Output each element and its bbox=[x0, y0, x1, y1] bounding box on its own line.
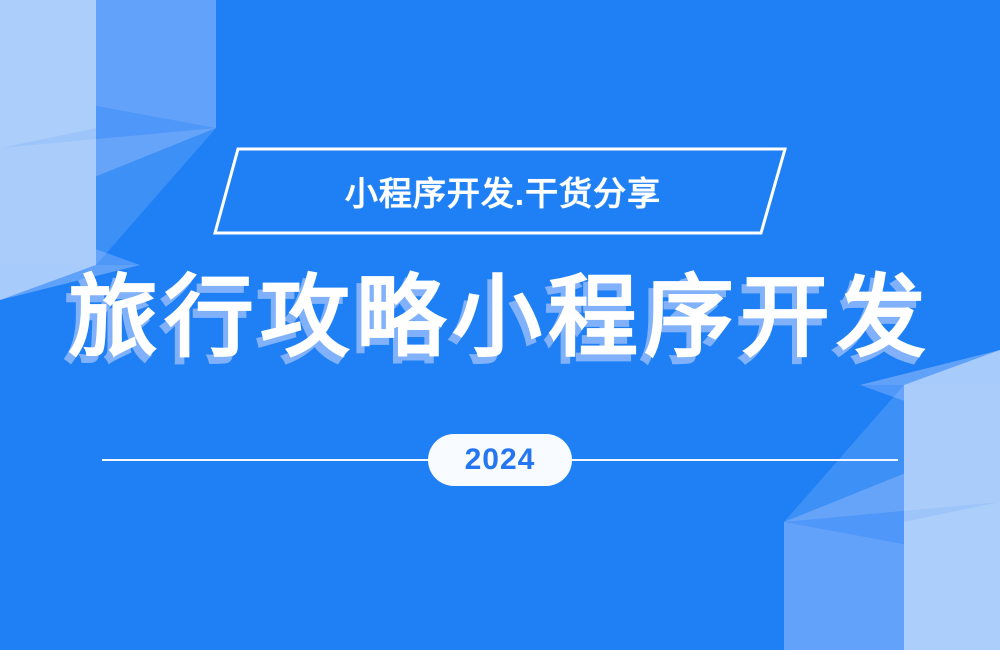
deco-tl-overlay-sheet bbox=[0, 128, 216, 265]
year-label: 2024 bbox=[465, 443, 536, 477]
deco-br-light-band bbox=[904, 502, 1000, 650]
year-badge: 2024 bbox=[428, 434, 572, 486]
title-text: 旅行攻略小程序开发 bbox=[68, 268, 932, 368]
deco-br-strip bbox=[904, 350, 1000, 650]
subtitle-badge: 小程序开发.干货分享 bbox=[212, 146, 788, 236]
deco-tl-strip bbox=[0, 0, 96, 300]
divider-line-left bbox=[102, 459, 444, 461]
deco-br-group bbox=[784, 350, 1000, 650]
year-divider-row: 2024 bbox=[0, 432, 1000, 488]
deco-br-mid-block bbox=[784, 522, 904, 650]
deco-tl-mid-block bbox=[96, 0, 216, 128]
page-title: 旅行攻略小程序开发 旅行攻略小程序开发 bbox=[0, 258, 1000, 378]
deco-tl-light-triangle-upper bbox=[0, 0, 96, 148]
deco-tl-light-band bbox=[0, 0, 96, 148]
divider-line-right bbox=[556, 459, 898, 461]
promo-banner: 小程序开发.干货分享 旅行攻略小程序开发 旅行攻略小程序开发 2024 bbox=[0, 0, 1000, 650]
deco-br-light-triangle-upper bbox=[904, 502, 1000, 650]
deco-tl-mid-wedge bbox=[0, 88, 216, 215]
subtitle-text: 小程序开发.干货分享 bbox=[212, 146, 788, 236]
